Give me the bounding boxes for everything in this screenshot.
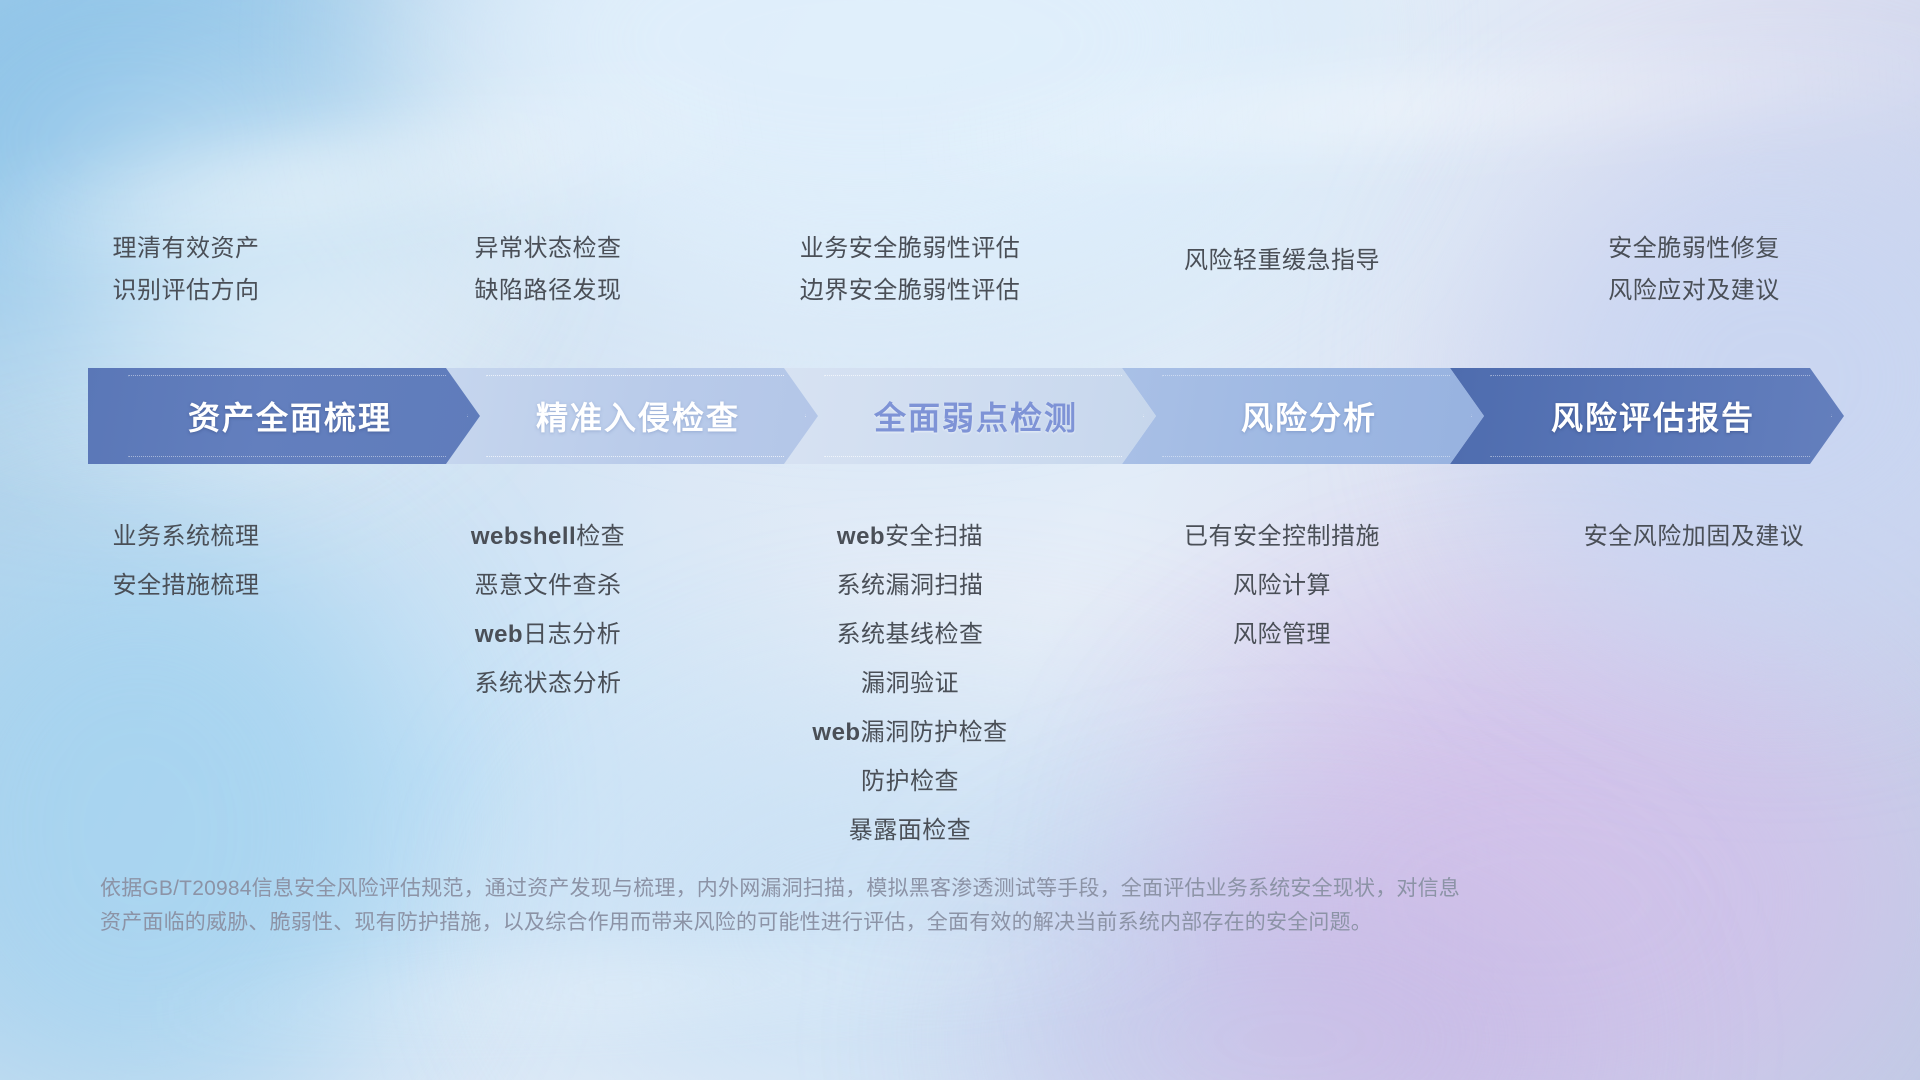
bottom-caption-line: 恶意文件查杀 — [475, 561, 622, 610]
top-caption-line: 边界安全脆弱性评估 — [800, 270, 1021, 312]
top-caption-line: 业务安全脆弱性评估 — [800, 228, 1021, 270]
caption-bold-term: web — [837, 523, 885, 550]
top-caption-line: 安全脆弱性修复 — [1608, 228, 1780, 270]
bottom-caption-line: 暴露面检查 — [849, 806, 972, 855]
bottom-caption-line: 漏洞验证 — [861, 659, 959, 708]
footer-line: 资产面临的威胁、脆弱性、现有防护措施，以及综合作用而带来风险的可能性进行评估，全… — [100, 906, 1740, 940]
process-step-asset-review[interactable]: 资产全面梳理 — [88, 368, 480, 464]
footer-description: 依据GB/T20984信息安全风险评估规范，通过资产发现与梳理，内外网漏洞扫描，… — [100, 872, 1740, 940]
top-caption-line: 缺陷路径发现 — [475, 270, 622, 312]
top-captions-risk-analysis: 风险轻重缓急指导 — [1096, 228, 1468, 312]
bottom-caption-line: web漏洞防护检查 — [812, 708, 1007, 757]
bottom-caption-line: 风险计算 — [1233, 561, 1331, 610]
process-step-label: 精准入侵检查 — [524, 393, 740, 439]
top-captions-intrusion-check: 异常状态检查 缺陷路径发现 — [372, 228, 724, 312]
bottom-caption-line: 业务系统梳理 — [113, 512, 260, 561]
bottom-caption-line: 系统漏洞扫描 — [837, 561, 984, 610]
process-step-label: 资产全面梳理 — [176, 393, 392, 439]
process-step-label: 风险分析 — [1229, 393, 1377, 439]
caption-bold-term: webshell — [471, 523, 576, 550]
top-caption-line: 风险应对及建议 — [1608, 270, 1780, 312]
bottom-caption-line: web安全扫描 — [837, 512, 983, 561]
process-step-label: 全面弱点检测 — [862, 393, 1078, 439]
bottom-caption-line: 安全措施梳理 — [113, 561, 260, 610]
process-step-risk-report[interactable]: 风险评估报告 — [1450, 368, 1844, 464]
bottom-caption-line: 系统状态分析 — [475, 659, 622, 708]
top-caption-line: 异常状态检查 — [475, 228, 622, 270]
bottom-caption-line: web日志分析 — [475, 610, 621, 659]
process-step-intrusion-check[interactable]: 精准入侵检查 — [446, 368, 818, 464]
process-step-risk-analysis[interactable]: 风险分析 — [1122, 368, 1484, 464]
top-captions-weakness-detection: 业务安全脆弱性评估 边界安全脆弱性评估 — [724, 228, 1096, 312]
bottom-caption-line: 系统基线检查 — [837, 610, 984, 659]
top-caption-line: 风险轻重缓急指导 — [1184, 240, 1380, 282]
process-arrow-banner: 资产全面梳理 精准入侵检查 全面弱点检测 风险分析 风险评估报告 — [88, 368, 1848, 464]
bottom-captions-risk-analysis: 已有安全控制措施 风险计算 风险管理 — [1096, 512, 1468, 659]
footer-line: 依据GB/T20984信息安全风险评估规范，通过资产发现与梳理，内外网漏洞扫描，… — [100, 872, 1740, 906]
bottom-caption-line: 风险管理 — [1233, 610, 1331, 659]
top-caption-line: 理清有效资产 — [113, 228, 260, 270]
bottom-captions-intrusion-check: webshell检查 恶意文件查杀 web日志分析 系统状态分析 — [372, 512, 724, 708]
top-captions-asset-review: 理清有效资产 识别评估方向 — [0, 228, 372, 312]
bottom-caption-line: 已有安全控制措施 — [1184, 512, 1380, 561]
process-step-weakness-detection[interactable]: 全面弱点检测 — [784, 368, 1156, 464]
top-captions-risk-report: 安全脆弱性修复 风险应对及建议 — [1468, 228, 1920, 312]
bottom-caption-line: webshell检查 — [471, 512, 625, 561]
caption-bold-term: web — [812, 719, 860, 746]
bottom-captions-asset-review: 业务系统梳理 安全措施梳理 — [0, 512, 372, 610]
bottom-caption-line: 防护检查 — [861, 757, 959, 806]
top-caption-line: 识别评估方向 — [113, 270, 260, 312]
top-caption-row: 理清有效资产 识别评估方向 异常状态检查 缺陷路径发现 业务安全脆弱性评估 边界… — [0, 228, 1920, 312]
infographic-canvas: 理清有效资产 识别评估方向 异常状态检查 缺陷路径发现 业务安全脆弱性评估 边界… — [0, 0, 1920, 1080]
bottom-captions-weakness-detection: web安全扫描 系统漏洞扫描 系统基线检查 漏洞验证 web漏洞防护检查 防护检… — [724, 512, 1096, 855]
bottom-caption-line: 安全风险加固及建议 — [1584, 512, 1805, 561]
caption-bold-term: web — [475, 621, 523, 648]
bottom-caption-row: 业务系统梳理 安全措施梳理 webshell检查 恶意文件查杀 web日志分析 … — [0, 512, 1920, 855]
bottom-captions-risk-report: 安全风险加固及建议 — [1468, 512, 1920, 561]
process-step-label: 风险评估报告 — [1539, 393, 1755, 439]
